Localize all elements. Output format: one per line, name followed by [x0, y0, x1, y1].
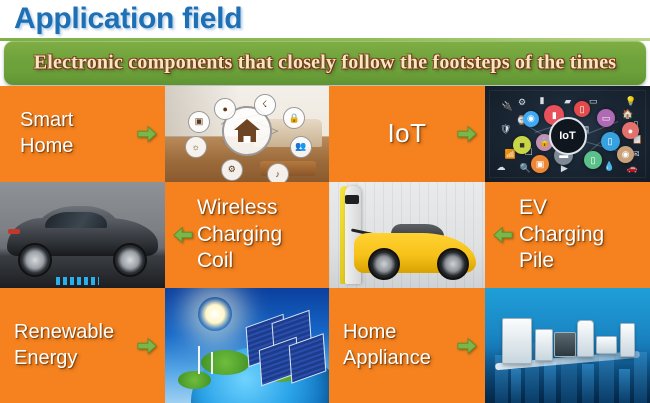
node-plug-icon: ☇ — [254, 94, 276, 116]
iot-glyph-search-icon: 🔍 — [520, 163, 531, 174]
smart-home-room-photo: ● ☇ 🔒 ▣ ☼ 👥 ⚙ ♪ — [165, 86, 329, 182]
evc-line2: Charging — [519, 223, 604, 246]
wcc-line2: Charging — [197, 223, 282, 246]
arrow-right-icon — [136, 123, 158, 145]
smart-home-line1: Smart — [20, 109, 73, 131]
arrow-right-icon — [456, 123, 478, 145]
cell-gray-car-image — [0, 182, 165, 288]
iot-glyph-plug-icon: 🔌 — [502, 101, 513, 112]
iot-core-node: IoT — [549, 117, 587, 155]
subtitle-banner: Electronic components that closely follo… — [4, 41, 646, 85]
arrow-left-icon — [492, 224, 514, 246]
gray-sports-car-photo — [0, 182, 165, 288]
appliance-hood-icon — [554, 332, 576, 357]
arrow-right-icon — [136, 335, 158, 357]
node-globe-icon: ☼ — [185, 136, 207, 158]
title-bar: Application field — [0, 0, 650, 42]
subtitle-banner-text: Electronic components that closely follo… — [4, 52, 646, 75]
iot-glyph-car-icon: ▰ — [564, 96, 571, 107]
cell-wireless-charging-coil-label[interactable]: Wireless Charging Coil — [165, 182, 329, 288]
iot-glyph-gears-icon: ⚙ — [518, 97, 526, 108]
iot-glyph-drop-icon: 💧 — [604, 161, 615, 172]
arrow-left-icon — [172, 224, 194, 246]
cell-smart-home-image: ● ☇ 🔒 ▣ ☼ 👥 ⚙ ♪ — [165, 86, 329, 182]
cell-home-appliance-label[interactable]: Home Appliance — [329, 288, 485, 403]
cell-renewable-energy-label[interactable]: Renewable Energy — [0, 288, 165, 403]
re-line2: Energy — [14, 347, 77, 369]
node-people-icon: 👥 — [290, 136, 312, 158]
page-title: Application field — [14, 0, 242, 39]
node-gear-icon: ⚙ — [221, 159, 243, 181]
node-camera-icon: ● — [214, 98, 236, 120]
application-field-grid: Smart Home ● ☇ 🔒 ▣ ☼ 👥 ⚙ — [0, 86, 650, 403]
cell-ev-charging-pile-label[interactable]: EV Charging Pile — [485, 182, 650, 288]
cell-iot-label[interactable]: IoT — [329, 86, 485, 182]
appliance-refrigerator-icon — [502, 318, 532, 364]
appliance-oven-icon — [535, 329, 554, 361]
appliance-microwave-icon — [596, 336, 618, 354]
wireless-charging-coil-beam — [56, 277, 99, 284]
wcc-line3: Coil — [197, 249, 233, 272]
iot-glyph-vehicle-icon: 🚗 — [627, 163, 638, 174]
home-appliances-city-photo — [485, 288, 650, 403]
yellow-car-ev-charger-photo — [329, 182, 485, 288]
node-music-icon: ♪ — [267, 163, 289, 182]
iot-glyph-shield-icon: 🛡 — [500, 124, 511, 135]
ha-line2: Appliance — [343, 347, 431, 369]
appliance-purifier-icon — [620, 323, 635, 357]
iot-node-phone-blue: ▯ — [601, 132, 620, 151]
appliance-waterheater-icon — [577, 320, 594, 357]
iot-glyph-home-icon: 🏠 — [622, 109, 633, 120]
iot-glyph-bulb-icon: 💡 — [625, 96, 636, 107]
iot-network-diagram-photo: IoT ▮ ▯ ◉ ▭ ■ 🔒 ▯ ● ▬ ▣ ▯ ◉ 🔌 ⚙ ▮ ▰ ▭ 💡 … — [485, 86, 650, 182]
evc-line3: Pile — [519, 249, 554, 272]
iot-glyph-tv-icon: ▭ — [589, 96, 598, 107]
re-line1: Renewable — [14, 321, 114, 343]
evc-line1: EV — [519, 196, 547, 219]
ha-line1: Home — [343, 321, 396, 343]
cell-home-appliance-image — [485, 288, 650, 403]
node-bag-icon: ▣ — [188, 111, 210, 133]
iot-glyph-phone-icon: ▮ — [539, 95, 544, 106]
cell-iot-image: IoT ▮ ▯ ◉ ▭ ■ 🔒 ▯ ● ▬ ▣ ▯ ◉ 🔌 ⚙ ▮ ▰ ▭ 💡 … — [485, 86, 650, 182]
cell-smart-home-label[interactable]: Smart Home — [0, 86, 165, 182]
iot-node-washer-tan: ◉ — [617, 146, 634, 163]
renewable-energy-label: Renewable Energy — [0, 320, 118, 371]
cell-renewable-energy-image — [165, 288, 329, 403]
iot-glyph-cloud-icon: ☁ — [497, 162, 506, 173]
cell-ev-charging-image — [329, 182, 485, 288]
arrow-right-icon — [456, 335, 478, 357]
wcc-line1: Wireless — [197, 196, 278, 219]
home-appliance-label: Home Appliance — [329, 320, 435, 371]
smart-home-label: Smart Home — [0, 108, 77, 159]
iot-node-battery-green: ■ — [513, 136, 531, 154]
iot-node-camera-blue: ◉ — [523, 111, 539, 127]
smart-home-line2: Home — [20, 135, 73, 157]
earth-solar-panels-photo — [165, 288, 329, 403]
